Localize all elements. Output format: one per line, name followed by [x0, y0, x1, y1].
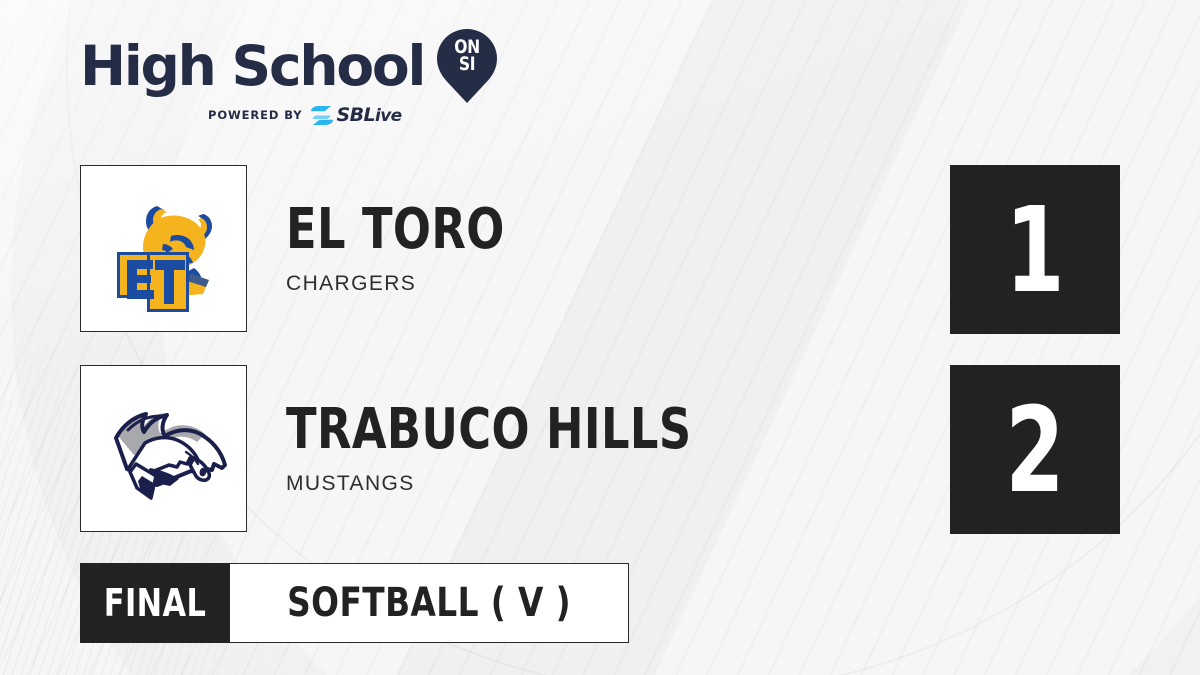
- team-score-box: 1: [950, 165, 1120, 334]
- sblive-logo: SBLive: [311, 106, 401, 125]
- sblive-wordmark-upper: SBL: [336, 104, 374, 126]
- team-row: EL TORO CHARGERS 1: [80, 165, 1120, 335]
- powered-by-row: POWERED BY SBLive: [208, 104, 510, 126]
- team-name: EL TORO: [286, 202, 505, 258]
- game-status-bar: FINAL SOFTBALL ( V ): [80, 563, 629, 643]
- map-pin-icon: ON SI: [436, 29, 498, 103]
- team-name: TRABUCO HILLS: [286, 402, 692, 458]
- sblive-wordmark-lower: ive: [375, 106, 402, 126]
- team-score: 1: [1006, 191, 1064, 309]
- pin-label: ON SI: [442, 39, 493, 73]
- team-text-block: EL TORO CHARGERS: [286, 165, 559, 332]
- sport-badge: SOFTBALL ( V ): [230, 563, 629, 643]
- sport-badge-label: SOFTBALL ( V ): [287, 580, 571, 626]
- brand-header: High School ON SI POWERED BY: [80, 34, 510, 138]
- status-badge: FINAL: [80, 563, 230, 643]
- brand-wordmark: High School: [80, 39, 424, 94]
- brand-wordmark-row: High School ON SI: [80, 34, 510, 98]
- team-text-block: TRABUCO HILLS MUSTANGS: [286, 365, 793, 532]
- sblive-s-icon: [311, 106, 333, 125]
- el-toro-bull-logo: [99, 184, 229, 314]
- status-badge-label: FINAL: [104, 581, 206, 625]
- pin-label-line2: SI: [442, 56, 493, 73]
- team-score-box: 2: [950, 365, 1120, 534]
- team-mascot: MUSTANGS: [286, 472, 793, 496]
- team-logo-card: [80, 365, 247, 532]
- team-score: 2: [1006, 391, 1064, 509]
- team-mascot: CHARGERS: [286, 272, 559, 296]
- scoreboard-graphic: High School ON SI POWERED BY: [0, 0, 1200, 675]
- trabuco-hills-mustang-logo: [98, 394, 230, 504]
- team-logo-card: [80, 165, 247, 332]
- sblive-wordmark: SBLive: [336, 106, 401, 125]
- powered-by-label: POWERED BY: [208, 108, 302, 122]
- team-row: TRABUCO HILLS MUSTANGS 2: [80, 365, 1120, 535]
